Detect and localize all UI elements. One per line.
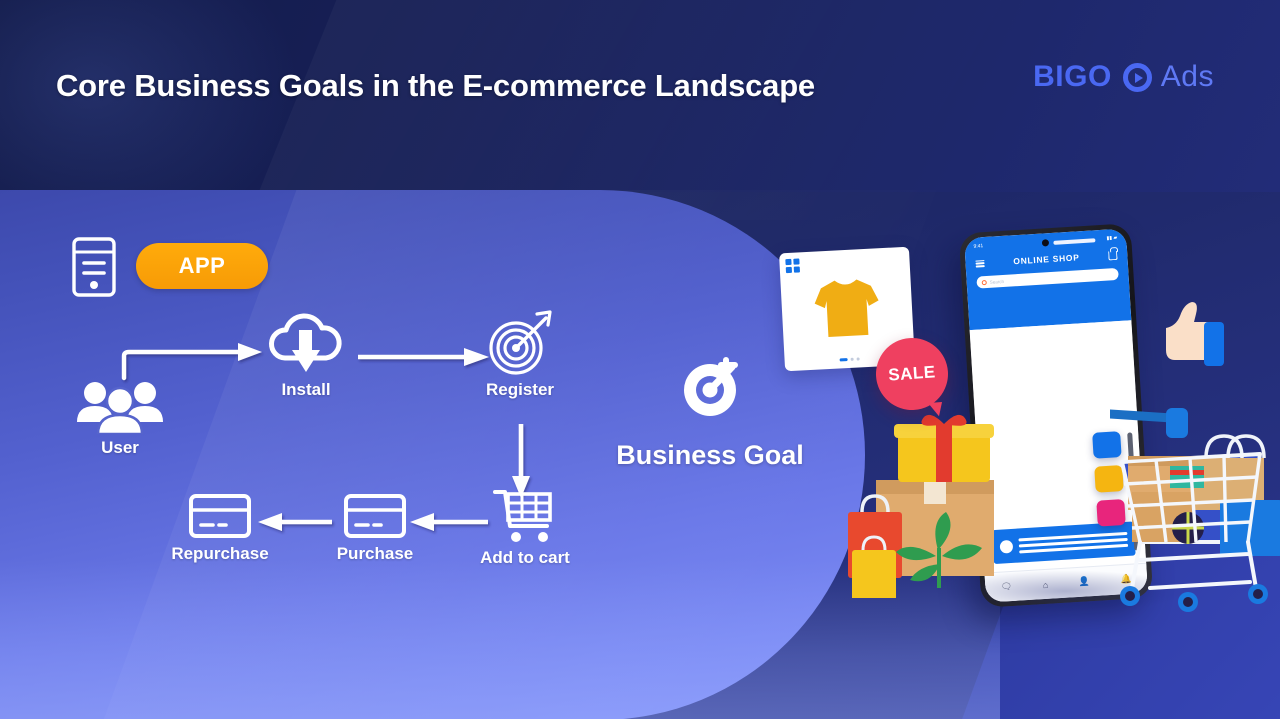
menu-icon[interactable]	[975, 260, 984, 268]
status-icons: ▮▮ ▰	[1106, 235, 1117, 242]
phone-search-input[interactable]: Search	[976, 268, 1118, 289]
logo-suffix-text: Ads	[1161, 60, 1214, 94]
flow-node-label: User	[60, 438, 180, 458]
search-placeholder: Search	[990, 278, 1005, 284]
flow-node-label: Repurchase	[165, 544, 275, 564]
grid-view-icon	[785, 258, 800, 273]
page-title: Core Business Goals in the E-commerce La…	[56, 68, 815, 104]
business-goal-node: Business Goal	[604, 354, 816, 471]
logo-brand-text: BIGO	[1033, 60, 1112, 94]
shopping-cart-icon	[493, 488, 557, 544]
flow-node-label: Add to cart	[470, 548, 580, 568]
flow-node-label: Register	[466, 380, 574, 400]
gift-and-bags-group	[838, 408, 1058, 603]
flow-node-user[interactable]: User	[60, 378, 180, 458]
flow-node-repurchase[interactable]: Repurchase	[165, 492, 275, 564]
cloud-download-icon	[267, 310, 345, 376]
arrow-user-to-install	[124, 343, 262, 378]
target-arrow-icon	[480, 308, 560, 376]
shopping-cart-illustration	[1110, 392, 1280, 627]
thumbs-up-icon	[1160, 298, 1228, 371]
bigo-ads-logo: BIGO Ads	[1033, 60, 1214, 94]
sale-badge-label: SALE	[888, 362, 937, 385]
slide-canvas: Core Business Goals in the E-commerce La…	[0, 0, 1280, 719]
flow-node-label: Purchase	[320, 544, 430, 564]
tshirt-product-image	[810, 274, 883, 342]
status-time: 9:41	[973, 243, 983, 250]
ecommerce-illustration: SALE 9:41 ▮▮ ▰ ONLINE SHOP	[820, 150, 1280, 650]
credit-card-icon	[188, 492, 252, 540]
flow-node-label: Install	[252, 380, 360, 400]
arrow-register-to-cart	[512, 424, 530, 498]
flow-node-add-to-cart[interactable]: Add to cart	[470, 488, 580, 568]
phone-app-header: 9:41 ▮▮ ▰ ONLINE SHOP Search	[964, 228, 1131, 330]
business-goal-label: Business Goal	[604, 440, 816, 471]
search-icon	[982, 279, 987, 284]
carousel-pager	[840, 357, 860, 361]
flow-node-install[interactable]: Install	[252, 310, 360, 400]
logo-play-icon	[1123, 63, 1152, 92]
users-group-icon	[75, 378, 165, 434]
target-arrow-filled-icon	[674, 354, 746, 424]
logo-brand-letters: BIGO	[1033, 60, 1112, 94]
credit-card-icon	[343, 492, 407, 540]
cart-icon[interactable]	[1108, 250, 1118, 260]
flow-diagram: APP	[0, 0, 880, 719]
flow-node-purchase[interactable]: Purchase	[320, 492, 430, 564]
phone-app-title: ONLINE SHOP	[1013, 252, 1080, 266]
flow-node-register[interactable]: Register	[466, 308, 574, 400]
